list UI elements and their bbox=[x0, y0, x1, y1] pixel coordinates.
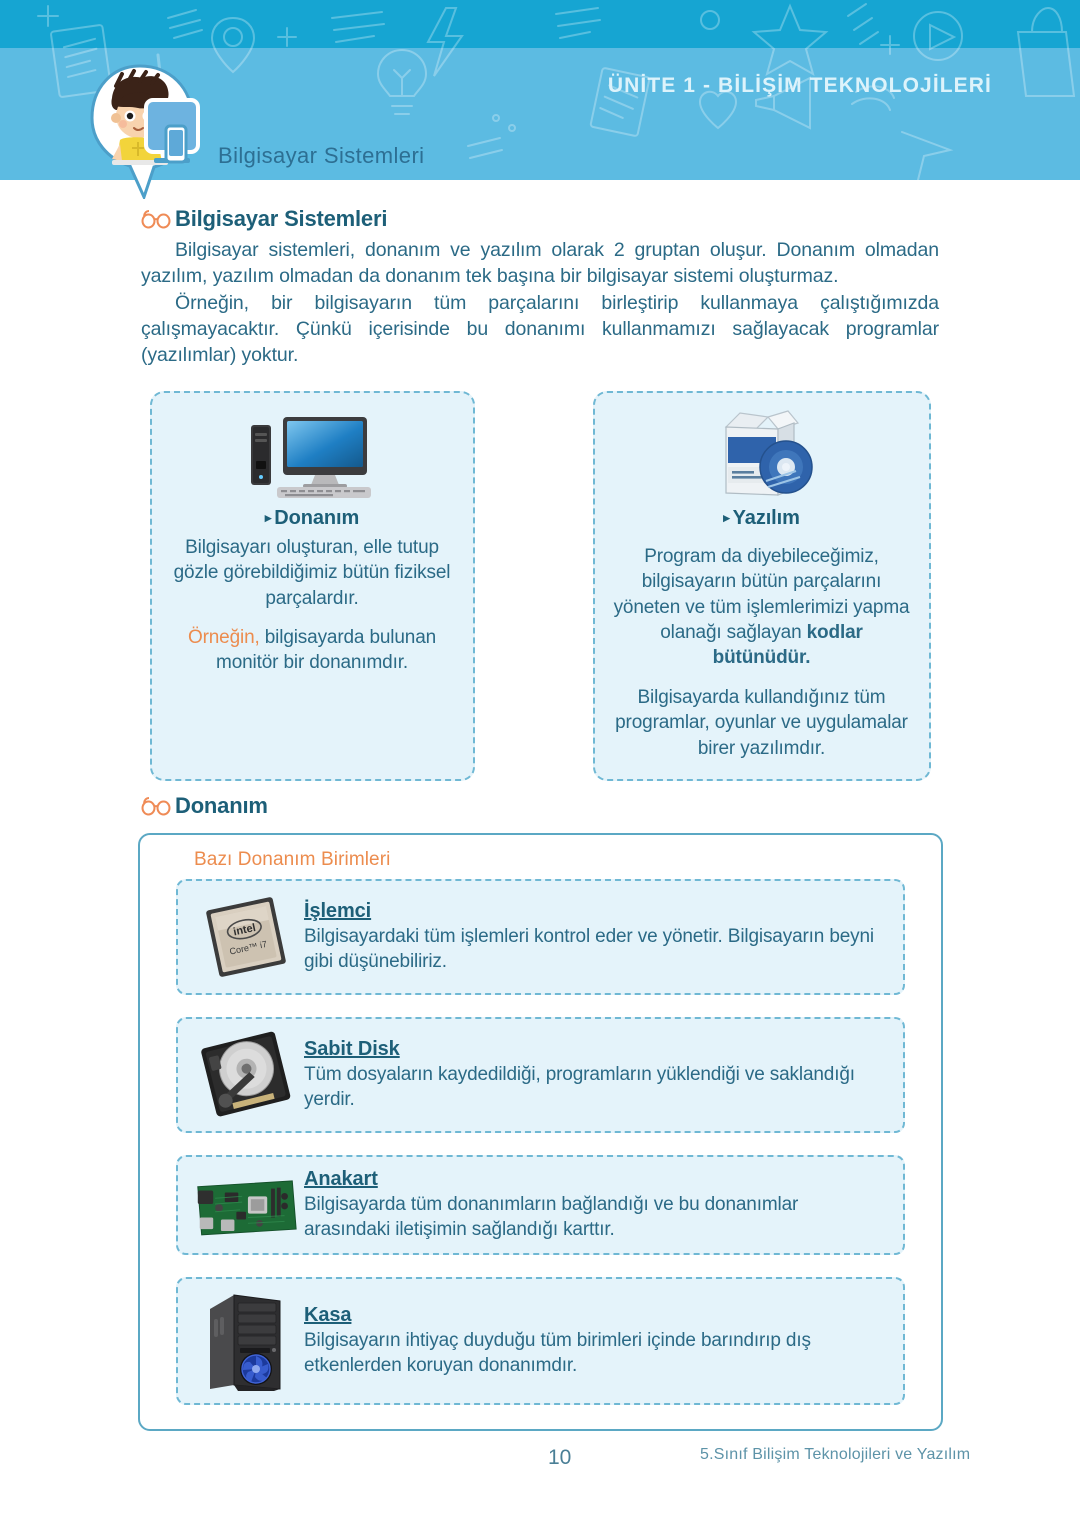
hardware-item-body: Kasa Bilgisayarın ihtiyaç duyduğu tüm bi… bbox=[300, 1304, 889, 1378]
page-content: Bilgisayar Sistemleri Bilgisayar sisteml… bbox=[0, 180, 1080, 1431]
glasses-icon bbox=[141, 208, 171, 230]
concept-text-donanim: Bilgisayarı oluşturan, elle tutup gözle … bbox=[168, 535, 457, 611]
hardware-item-name: Kasa bbox=[304, 1304, 351, 1327]
hardware-item-body: Sabit Disk Tüm dosyaların kaydedildiği, … bbox=[300, 1038, 889, 1112]
hardware-item-description: Tüm dosyaların kaydedildiği, programları… bbox=[304, 1063, 889, 1112]
concept-text-yazilim-1: Program da diyebileceğimiz, bilgisayarın… bbox=[611, 544, 913, 671]
desktop-computer-icon bbox=[168, 409, 457, 501]
hard-disk-icon bbox=[192, 1029, 300, 1121]
unit-title: ÜNİTE 1 - BİLİŞİM TEKNOLOJİLERİ bbox=[608, 74, 992, 98]
concept-label-yazilim: ▸Yazılım bbox=[611, 507, 913, 530]
pc-case-icon bbox=[192, 1289, 300, 1393]
concept-label-text: Donanım bbox=[274, 507, 359, 529]
hardware-item-description: Bilgisayardaki tüm işlemleri kontrol ede… bbox=[304, 925, 889, 974]
hardware-item-description: Bilgisayarda tüm donanımların bağlandığı… bbox=[304, 1193, 889, 1242]
cpu-processor-icon: intel Core™ i7 bbox=[192, 891, 300, 983]
concept-label-donanim: ▸Donanım bbox=[168, 507, 457, 530]
heading-text: Donanım bbox=[175, 793, 268, 819]
concept-boxes: ▸Donanım Bilgisayarı oluşturan, elle tut… bbox=[0, 391, 1080, 782]
concept-label-text: Yazılım bbox=[733, 507, 800, 529]
example-prefix: Örneğin, bbox=[188, 627, 260, 648]
hardware-item-body: Anakart Bilgisayarda tüm donanımların ba… bbox=[300, 1168, 889, 1242]
mascot-avatar bbox=[78, 64, 208, 199]
paragraph-1: Bilgisayar sistemleri, donanım ve yazılı… bbox=[141, 238, 939, 289]
hardware-item-kasa: Kasa Bilgisayarın ihtiyaç duyduğu tüm bi… bbox=[176, 1277, 905, 1405]
hardware-item-name: Anakart bbox=[304, 1168, 378, 1191]
concept-box-donanim: ▸Donanım Bilgisayarı oluşturan, elle tut… bbox=[150, 391, 475, 782]
concept-text-yazilim-2: Bilgisayarda kullandığınız tüm programla… bbox=[611, 685, 913, 761]
heading-bilgisayar-sistemleri: Bilgisayar Sistemleri bbox=[141, 206, 1080, 232]
yazilim-text-part-1: Program da diyebileceğimiz, bilgisayarın… bbox=[614, 546, 910, 643]
concept-example-donanim: Örneğin, bilgisayarda bulunan monitör bi… bbox=[168, 625, 457, 676]
hardware-item-islemci: intel Core™ i7 İşlemci Bilgisayardaki tü… bbox=[176, 879, 905, 995]
hardware-units-box: Bazı Donanım Birimleri intel Core™ i7 bbox=[138, 833, 943, 1431]
bullet-arrow-icon: ▸ bbox=[723, 510, 729, 525]
footer-book-title: 5.Sınıf Bilişim Teknolojileri ve Yazılım bbox=[700, 1446, 970, 1464]
hardware-item-description: Bilgisayarın ihtiyaç duyduğu tüm birimle… bbox=[304, 1329, 889, 1378]
hardware-item-body: İşlemci Bilgisayardaki tüm işlemleri kon… bbox=[300, 900, 889, 974]
header-band-top bbox=[0, 0, 1080, 48]
motherboard-icon bbox=[192, 1168, 300, 1242]
header-section-title: Bilgisayar Sistemleri bbox=[218, 143, 424, 169]
hardware-units-title: Bazı Donanım Birimleri bbox=[194, 849, 923, 871]
concept-box-yazilim: ▸Yazılım Program da diyebileceğimiz, bil… bbox=[593, 391, 931, 782]
hardware-item-anakart: Anakart Bilgisayarda tüm donanımların ba… bbox=[176, 1155, 905, 1255]
bullet-arrow-icon: ▸ bbox=[265, 510, 271, 525]
heading-text: Bilgisayar Sistemleri bbox=[175, 206, 387, 232]
hardware-item-name: İşlemci bbox=[304, 900, 371, 923]
textbook-page: ÜNİTE 1 - BİLİŞİM TEKNOLOJİLERİ Bilgisay… bbox=[0, 0, 1080, 1528]
page-header: ÜNİTE 1 - BİLİŞİM TEKNOLOJİLERİ Bilgisay… bbox=[0, 0, 1080, 180]
heading-donanim: Donanım bbox=[141, 793, 1080, 819]
software-box-cd-icon bbox=[611, 409, 913, 501]
glasses-icon bbox=[141, 795, 171, 817]
hardware-item-name: Sabit Disk bbox=[304, 1038, 400, 1061]
paragraph-2: Örneğin, bir bilgisayarın tüm parçaların… bbox=[141, 291, 939, 368]
page-number: 10 bbox=[548, 1446, 571, 1470]
hardware-item-sabit-disk: Sabit Disk Tüm dosyaların kaydedildiği, … bbox=[176, 1017, 905, 1133]
